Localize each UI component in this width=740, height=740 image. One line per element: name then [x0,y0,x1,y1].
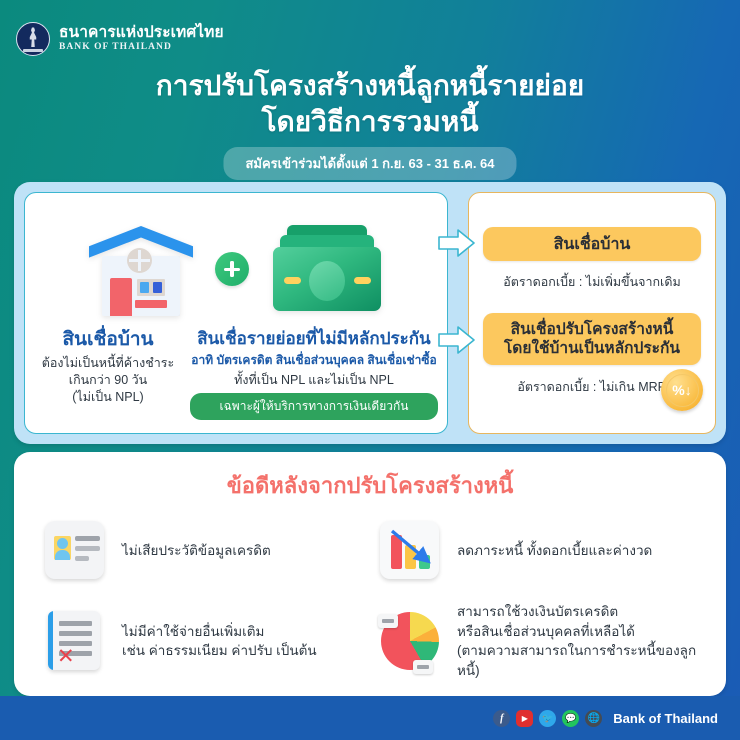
footer-bar: f ▶ 🐦 💬 🌐 Bank of Thailand [0,696,740,740]
benefit-item: ไม่เสียประวัติข้อมูลเครดิต [42,512,377,590]
brand-lockup: ธนาคารแห่งประเทศไทย BANK OF THAILAND [16,22,224,56]
house-loan-title: สินเชื่อบ้าน [33,329,183,352]
house-loan-desc-line2: เกินกว่า 90 วัน [33,372,183,389]
page-title-line2: โดยวิธีการรวมหนี้ [0,104,740,140]
eligibility-text-columns: สินเชื่อบ้าน ต้องไม่เป็นหนี้ที่ค้างชำระ … [33,329,439,420]
benefit-line: เช่น ค่าธรรมเนียม ค่าปรับ เป็นต้น [122,641,317,661]
seal-figure [29,27,38,47]
page-title: การปรับโครงสร้างหนี้ลูกหนี้รายย่อย โดยวิ… [0,68,740,141]
house-loan-desc-line1: ต้องไม่เป็นหนี้ที่ค้างชำระ [33,355,183,372]
benefit-item: ลดภาระหนี้ ทั้งดอกเบี้ยและค่างวด [377,512,712,590]
benefit-text: สามารถใช้วงเงินบัตรเครดิต หรือสินเชื่อส่… [457,602,712,680]
outcome-box-restructured-line1: สินเชื่อปรับโครงสร้างหนี้ [504,320,680,339]
brand-name-en: BANK OF THAILAND [59,43,224,53]
benefit-text: ลดภาระหนี้ ทั้งดอกเบี้ยและค่างวด [457,541,652,561]
enrollment-date-badge: สมัครเข้าร่วมได้ตั้งแต่ 1 ก.ย. 63 - 31 ธ… [223,147,516,180]
website-globe-icon[interactable]: 🌐 [585,710,602,727]
percent-down-coin-icon: %↓ [661,369,703,411]
line-icon[interactable]: 💬 [562,710,579,727]
benefit-line: ลดภาระหนี้ ทั้งดอกเบี้ยและค่างวด [457,541,652,561]
declining-bar-chart-icon [377,518,443,584]
coin-glyph: %↓ [666,374,699,407]
benefits-title: ข้อดีหลังจากปรับโครงสร้างหนี้ [14,468,726,503]
house-loan-desc-line3: (ไม่เป็น NPL) [33,389,183,406]
plus-circle-icon [215,252,249,286]
footer-org-name: Bank of Thailand [613,711,718,726]
twitter-icon[interactable]: 🐦 [539,710,556,727]
eligibility-outcome-panel: สินเชื่อบ้าน ต้องไม่เป็นหนี้ที่ค้างชำระ … [14,182,726,444]
benefit-line: หรือสินเชื่อส่วนบุคคลที่เหลือได้ [457,622,712,642]
benefit-text: ไม่มีค่าใช้จ่ายอื่นเพิ่มเติม เช่น ค่าธรร… [122,622,317,661]
benefit-item: ✕ ไม่มีค่าใช้จ่ายอื่นเพิ่มเติม เช่น ค่าธ… [42,602,377,680]
page-title-line1: การปรับโครงสร้างหนี้ลูกหนี้รายย่อย [156,70,584,101]
eligibility-card: สินเชื่อบ้าน ต้องไม่เป็นหนี้ที่ค้างชำระ … [24,192,448,434]
house-icon [89,222,193,316]
outcome-note-home-loan: อัตราดอกเบี้ย : ไม่เพิ่มขึ้นจากเดิม [479,272,705,292]
benefit-line: (ตามความสามารถในการชำระหนี้ของลูกหนี้) [457,641,712,680]
benefits-panel: ข้อดีหลังจากปรับโครงสร้างหนี้ ไม่เสียประ… [14,452,726,696]
outcome-card: สินเชื่อบ้าน อัตราดอกเบี้ย : ไม่เพิ่มขึ้… [468,192,716,434]
bot-seal-icon [16,22,50,56]
unsecured-loan-examples: อาทิ บัตรเครดิต สินเชื่อส่วนบุคคล สินเชื… [189,352,439,368]
outcome-box-restructured-loan: สินเชื่อปรับโครงสร้างหนี้ โดยใช้บ้านเป็น… [483,313,701,365]
unsecured-loan-npl-note: ทั้งที่เป็น NPL และไม่เป็น NPL [189,372,439,389]
pie-chart-icon [377,608,443,674]
benefit-line: ไม่มีค่าใช้จ่ายอื่นเพิ่มเติม [122,622,317,642]
benefits-grid: ไม่เสียประวัติข้อมูลเครดิต ลดภาระหนี้ ทั… [42,512,712,680]
benefit-line: สามารถใช้วงเงินบัตรเครดิต [457,602,712,622]
unsecured-loan-block: สินเชื่อรายย่อยที่ไม่มีหลักประกัน อาทิ บ… [189,329,439,420]
brand-name-th: ธนาคารแห่งประเทศไทย [59,25,224,41]
house-loan-desc: ต้องไม่เป็นหนี้ที่ค้างชำระ เกินกว่า 90 ว… [33,355,183,406]
outcome-box-home-loan: สินเชื่อบ้าน [483,227,701,261]
arrow-right-icon [438,228,476,258]
same-provider-badge: เฉพาะผู้ให้บริการทางการเงินเดียวกัน [190,393,438,420]
credit-record-card-icon [42,518,108,584]
unsecured-loan-title: สินเชื่อรายย่อยที่ไม่มีหลักประกัน [189,329,439,349]
arrow-right-icon [438,325,476,355]
benefit-text: ไม่เสียประวัติข้อมูลเครดิต [122,541,271,561]
seal-base [23,49,43,52]
brand-text: ธนาคารแห่งประเทศไทย BANK OF THAILAND [59,25,224,53]
benefit-line: ไม่เสียประวัติข้อมูลเครดิต [122,541,271,561]
benefit-item: สามารถใช้วงเงินบัตรเครดิต หรือสินเชื่อส่… [377,602,712,680]
cash-stack-icon [271,223,383,315]
house-loan-block: สินเชื่อบ้าน ต้องไม่เป็นหนี้ที่ค้างชำระ … [33,329,183,405]
document-x-icon: ✕ [42,608,108,674]
outcome-box-restructured-line2: โดยใช้บ้านเป็นหลักประกัน [504,339,680,358]
youtube-icon[interactable]: ▶ [516,710,533,727]
eligibility-icons-row [25,211,447,327]
facebook-icon[interactable]: f [493,710,510,727]
